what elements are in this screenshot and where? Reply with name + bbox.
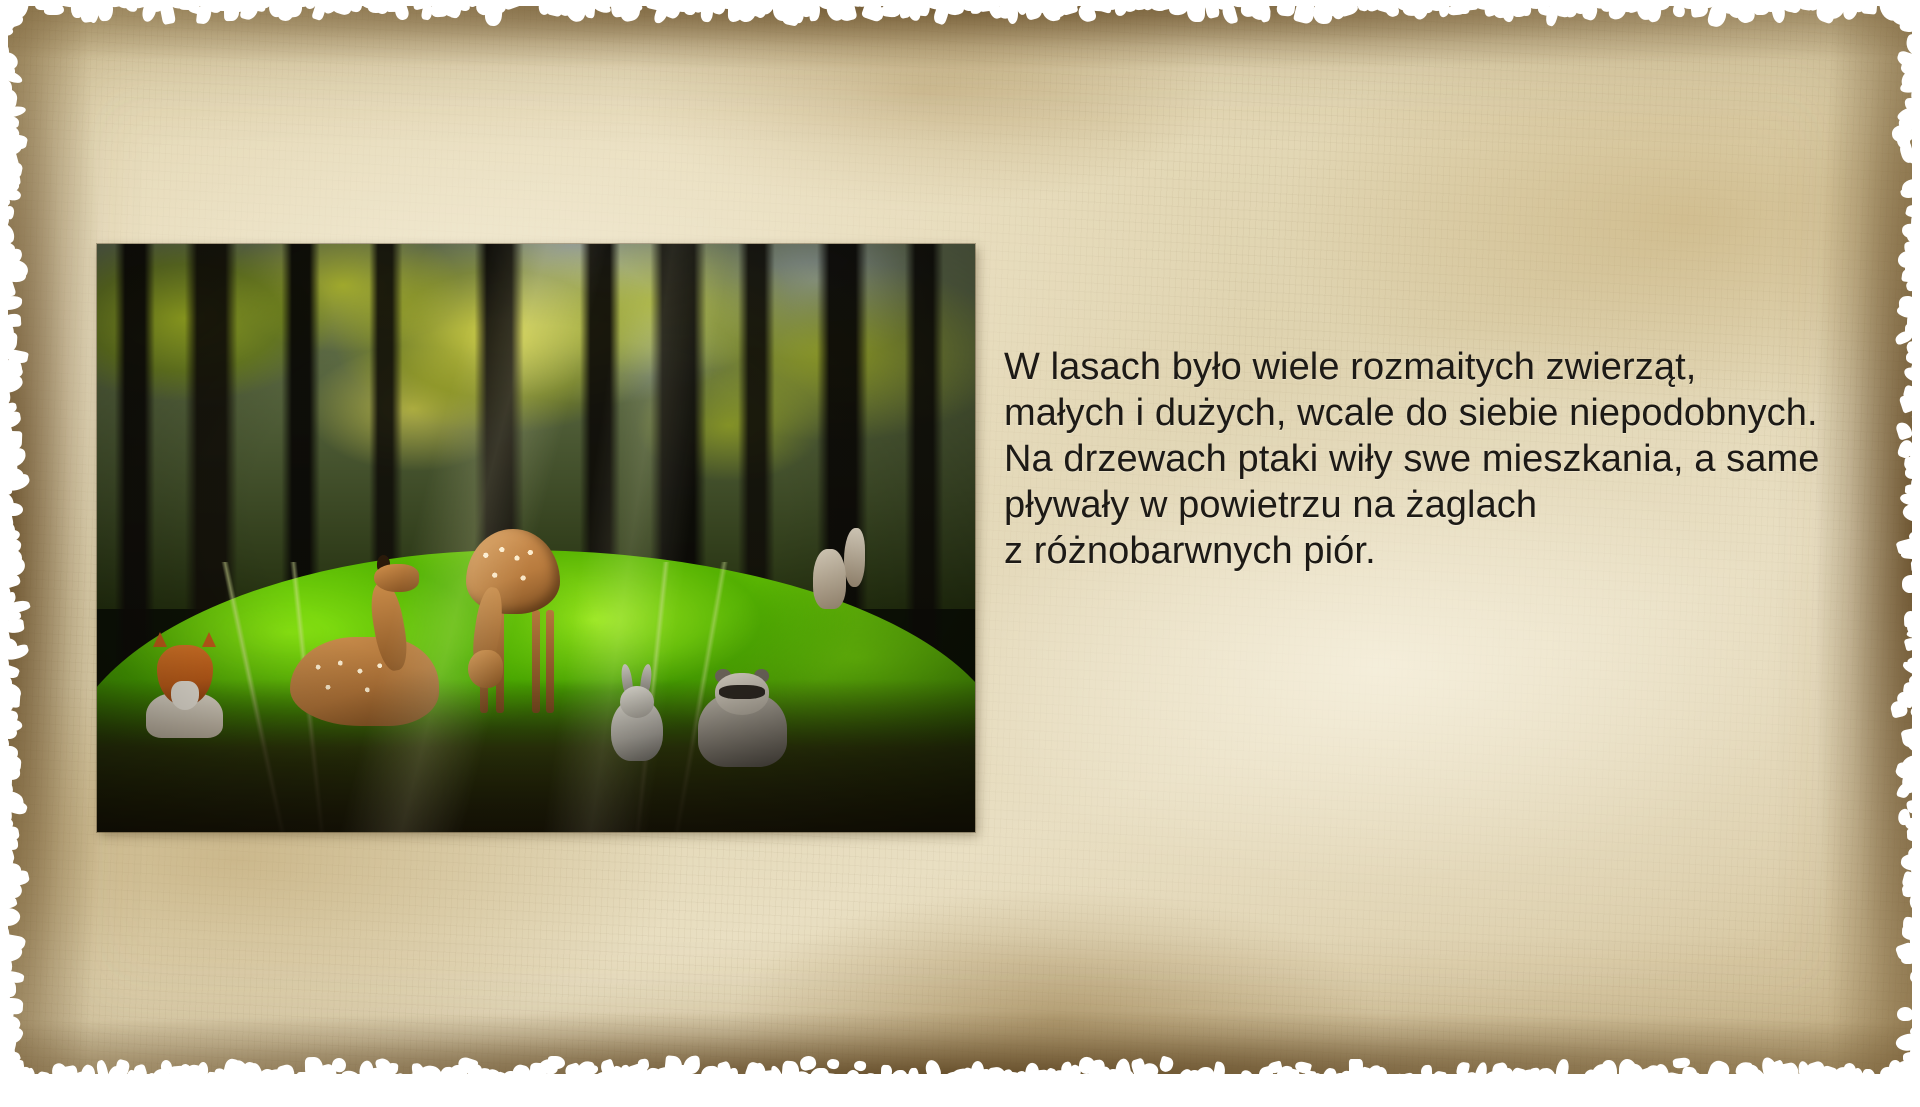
parchment-tear-notch	[557, 1077, 575, 1091]
parchment-tear-notch	[490, 1071, 507, 1098]
parchment-tear-notch	[1915, 996, 1920, 1018]
parchment-tear-notch	[1915, 160, 1920, 179]
parchment-tear-notch	[1447, 1074, 1464, 1090]
parchment-tear-notch	[890, 1070, 909, 1096]
parchment-tear-notch	[692, 1078, 704, 1096]
parchment-tear-notch	[1870, 1079, 1883, 1093]
parchment-tear-notch	[1909, 1086, 1920, 1104]
parchment-tear-notch	[512, 0, 532, 5]
parchment-tear-notch	[1913, 717, 1920, 735]
parchment-tear-notch	[33, 1071, 55, 1101]
parchment-tear-notch	[862, 1072, 882, 1097]
forest-photo-content	[97, 244, 975, 832]
parchment-tear-notch	[1913, 169, 1920, 184]
parchment-tear-notch	[0, 304, 6, 322]
parchment-tear-notch	[0, 1088, 11, 1107]
parchment-tear-notch	[1915, 980, 1920, 994]
parchment-tear-notch	[296, 1072, 312, 1095]
parchment-tear-notch	[1911, 863, 1920, 879]
forest-photo	[97, 244, 975, 832]
parchment-tear-notch	[1914, 0, 1920, 22]
parchment-tear-notch	[1911, 986, 1920, 1010]
parchment-tear-notch	[139, 1071, 161, 1101]
parchment-tear-notch	[592, 1071, 613, 1092]
parchment-tear-notch	[1914, 430, 1920, 449]
parchment-tear-notch	[87, 1077, 111, 1105]
parchment-tear-notch	[1913, 898, 1920, 917]
parchment-tear-notch	[934, 1073, 953, 1092]
parchment-tear-notch	[430, 1074, 449, 1100]
parchment-tear-notch	[1437, 1074, 1452, 1090]
parchment-tear-notch	[1724, 1077, 1743, 1101]
parchment-tear-notch	[1428, 1070, 1448, 1099]
parchment-tear-notch	[1915, 563, 1920, 588]
parchment-tear-notch	[1913, 643, 1920, 664]
parchment-tear-notch	[1913, 744, 1920, 765]
parchment-tear-notch	[1912, 1078, 1920, 1098]
parchment-tear-notch	[1222, 1076, 1241, 1089]
parchment-tear-notch	[1915, 1074, 1920, 1093]
parchment-tear-notch	[1412, 1073, 1429, 1089]
parchment-tear-notch	[1689, 1072, 1704, 1091]
parchment-tear-notch	[43, 1078, 60, 1098]
parchment-tear-notch	[1230, 1075, 1244, 1091]
photo-vignette	[97, 244, 975, 832]
parchment-tear-notch	[1914, 44, 1920, 62]
parchment-tear-notch	[1913, 602, 1920, 620]
parchment-tear-notch	[1911, 408, 1920, 429]
parchment-tear-notch	[1150, 1073, 1164, 1089]
slide-canvas: W lasach było wiele rozmaitych zwierząt,…	[0, 0, 1920, 1080]
parchment-tear-notch	[1905, 0, 1920, 4]
parchment-tear-notch	[1607, 1078, 1625, 1107]
parchment-tear-notch	[1697, 1076, 1717, 1106]
parchment-tear-notch	[348, 1074, 366, 1100]
parchment-tear-notch	[817, 1072, 838, 1094]
parchment-tear-notch	[286, 1074, 300, 1090]
parchment-tear-notch	[836, 1076, 854, 1100]
parchment-tear-notch	[1286, 0, 1299, 5]
parchment-tear-notch	[530, 0, 550, 4]
parchment-tear-notch	[1911, 509, 1920, 529]
parchment-tear-notch	[0, 286, 7, 301]
parchment-tear-notch	[1914, 1016, 1920, 1028]
parchment-tear-notch	[520, 0, 538, 5]
parchment-tear-notch	[1348, 0, 1362, 5]
parchment-tear-notch	[1169, 1080, 1181, 1092]
parchment-tear-notch	[1385, 1074, 1402, 1101]
parchment-tear-notch	[871, 1074, 889, 1088]
parchment-tear-notch	[1912, 287, 1920, 300]
parchment-tear-notch	[205, 1072, 217, 1095]
parchment-tear-notch	[1897, 0, 1912, 6]
parchment-tear-notch	[1912, 520, 1920, 541]
parchment-tear-notch	[915, 1073, 935, 1096]
parchment-tear-notch	[897, 1075, 921, 1103]
parchment-tear-notch	[1268, 0, 1284, 3]
parchment-tear-notch	[1249, 1073, 1263, 1098]
parchment-tear-notch	[0, 35, 5, 53]
parchment-tear-notch	[637, 0, 652, 6]
parchment-tear-notch	[1330, 1072, 1351, 1093]
parchment-tear-notch	[0, 1079, 9, 1096]
parchment-tear-notch	[391, 1071, 414, 1102]
parchment-tear-notch	[1545, 1075, 1568, 1101]
parchment-tear-notch	[521, 1070, 535, 1096]
parchment-tear-notch	[1312, 1073, 1326, 1091]
parchment-tear-notch	[1913, 589, 1920, 614]
parchment-tear-notch	[1564, 1074, 1581, 1102]
parchment-tear-notch	[1913, 0, 1920, 17]
parchment-tear-notch	[735, 1073, 757, 1093]
parchment-tear-notch	[1392, 1073, 1406, 1090]
parchment-tear-notch	[0, 1074, 3, 1085]
parchment-tear-notch	[404, 1072, 422, 1094]
parchment-tear-notch	[1401, 1072, 1420, 1099]
parchment-tear-notch	[1716, 1074, 1731, 1091]
parchment-tear-notch	[1912, 791, 1920, 802]
parchment-tear-notch	[1573, 1075, 1594, 1090]
story-caption: W lasach było wiele rozmaitych zwierząt,…	[1004, 344, 1864, 574]
